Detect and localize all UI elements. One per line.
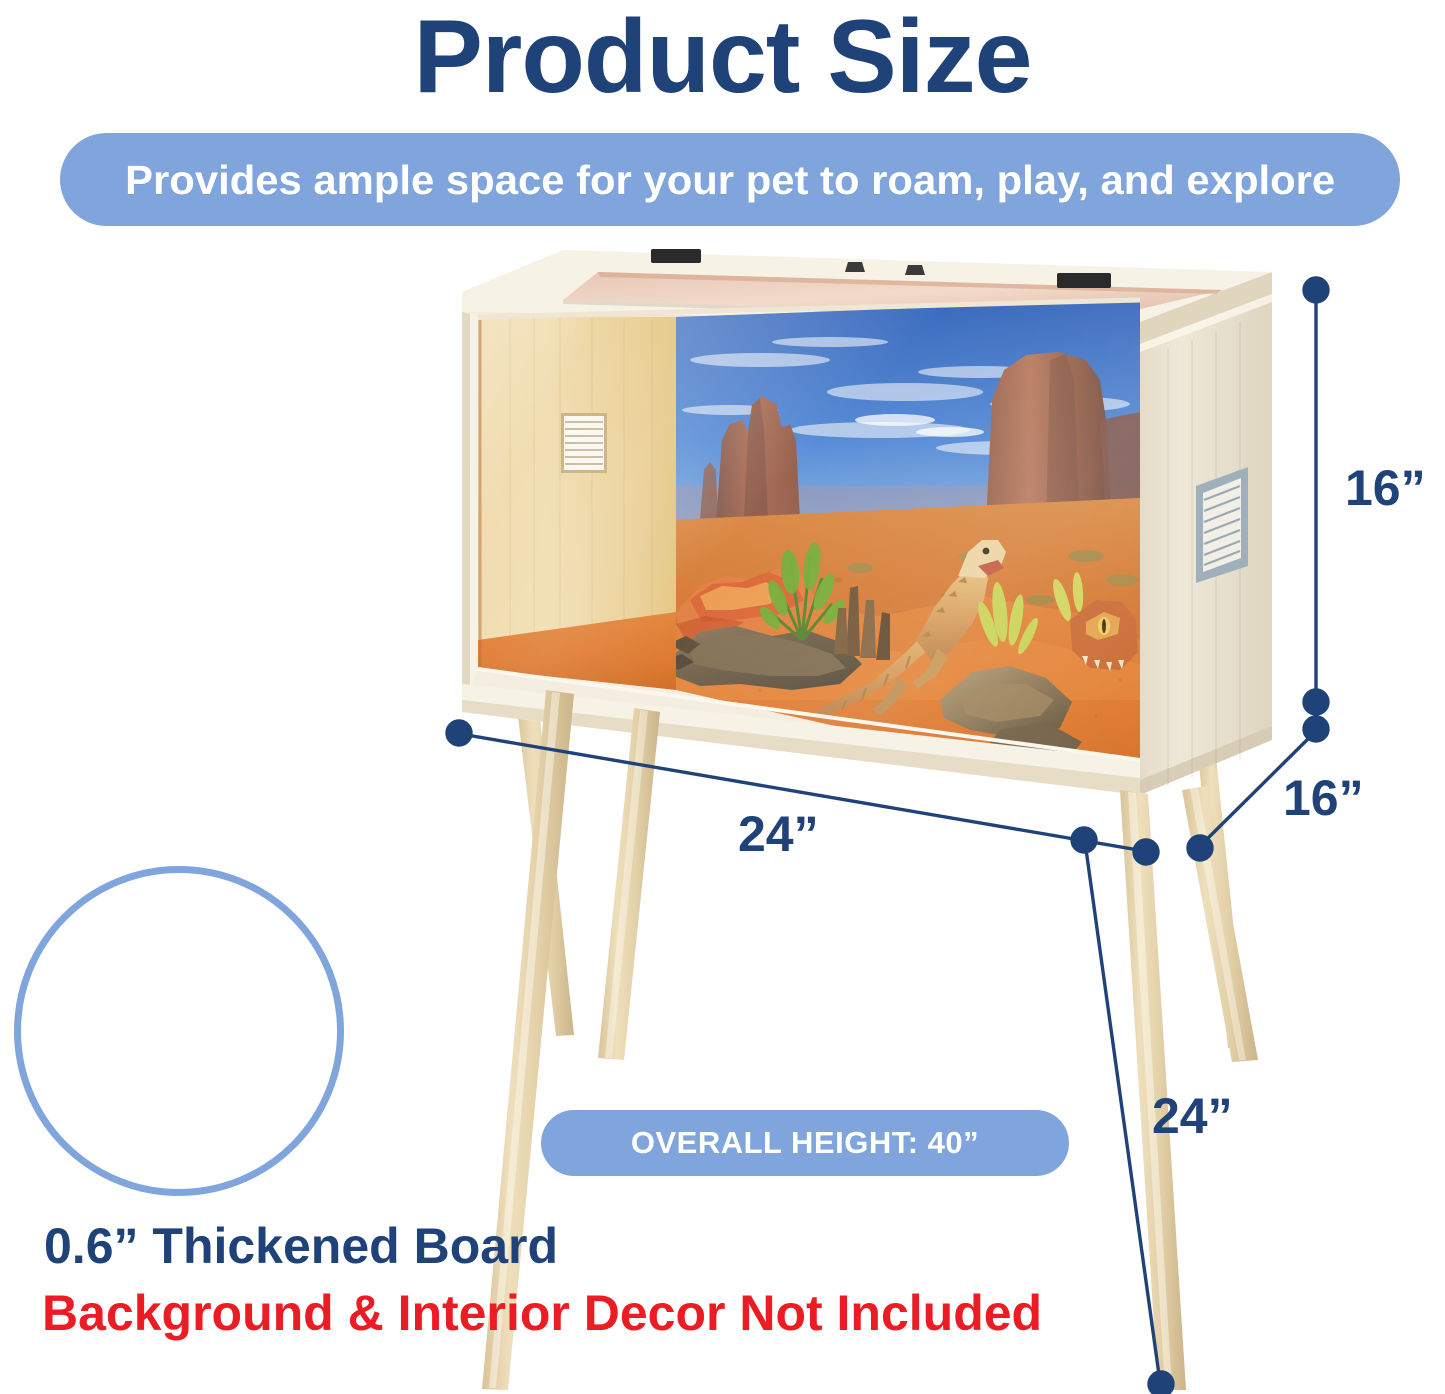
- caption-thickened-board: 0.6” Thickened Board: [44, 1218, 558, 1274]
- hinge-right-icon: [1057, 273, 1111, 288]
- cabinet-right-side-panel: [1140, 294, 1272, 795]
- right-side-louvered-vent: [1196, 467, 1248, 583]
- dimension-label-depth: 16”: [1283, 772, 1364, 824]
- overall-height-text: OVERALL HEIGHT: 40”: [631, 1125, 979, 1161]
- detail-inset-frame: [14, 866, 344, 1196]
- dimension-label-height: 16”: [1345, 462, 1426, 514]
- infographic-canvas: Product Size Provides ample space for yo…: [0, 0, 1445, 1394]
- latch-left-icon: [845, 262, 865, 272]
- overall-height-badge: OVERALL HEIGHT: 40”: [541, 1110, 1069, 1176]
- caption-decor-warning: Background & Interior Decor Not Included: [42, 1285, 1042, 1341]
- dimension-label-width: 24”: [738, 808, 819, 860]
- hinge-left-icon: [651, 249, 701, 263]
- leg-front-mid: [598, 708, 660, 1060]
- latch-right-icon: [905, 265, 925, 275]
- dimension-label-leg-height: 24”: [1152, 1090, 1233, 1142]
